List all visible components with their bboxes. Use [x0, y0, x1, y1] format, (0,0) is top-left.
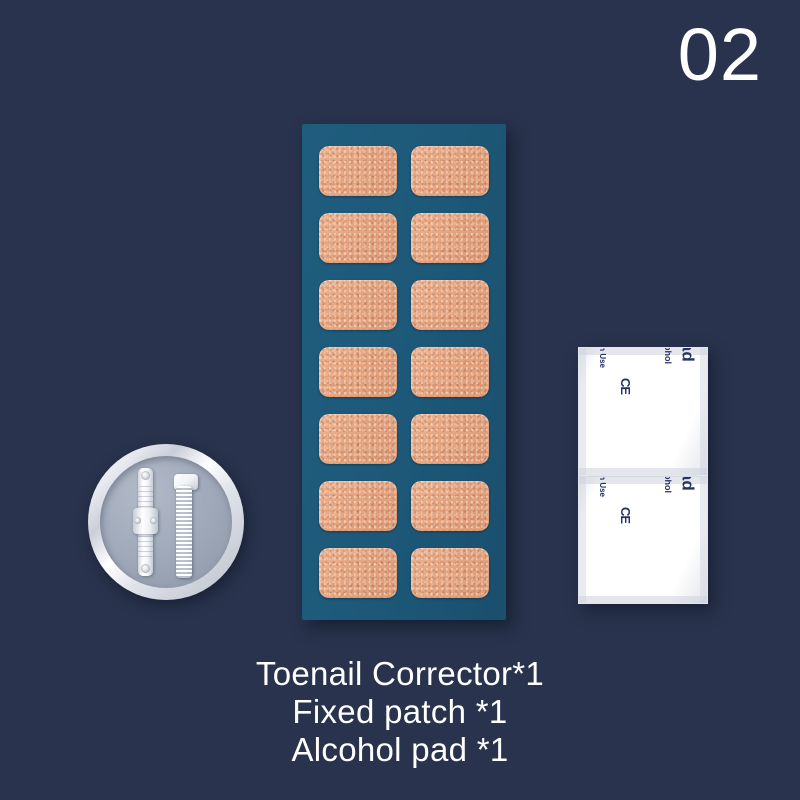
adhesive-patch	[411, 548, 489, 598]
adhesive-patch	[411, 213, 489, 263]
alcohol-pad-title: Alcohol Pad	[677, 347, 697, 362]
alcohol-pad-subtitle: 75% Alcohol	[663, 476, 673, 493]
adhesive-patch	[411, 414, 489, 464]
patch-row	[319, 347, 489, 397]
patch-row	[319, 280, 489, 330]
caption-line-1: Toenail Corrector*1	[0, 655, 800, 693]
patch-row	[319, 481, 489, 531]
step-number: 02	[678, 18, 762, 92]
patch-row	[319, 213, 489, 263]
adhesive-patch	[319, 280, 397, 330]
alcohol-pad-strip: Alcohol Pad 75% Alcohol CE For Disinfect…	[578, 347, 708, 604]
adhesive-patch	[319, 414, 397, 464]
adhesive-patch	[319, 481, 397, 531]
alcohol-pad-title: Alcohol Pad	[677, 476, 697, 491]
adhesive-patch	[319, 548, 397, 598]
caption-line-2: Fixed patch *1	[0, 693, 800, 731]
adhesive-patch	[411, 481, 489, 531]
alcohol-pad-usage-text: For Disinfection Use	[598, 476, 607, 497]
toenail-corrector-disc	[88, 444, 244, 600]
ce-mark-icon: CE	[618, 506, 633, 522]
alcohol-pad-packet: Alcohol Pad 75% Alcohol CE For Disinfect…	[578, 347, 708, 476]
patch-row	[319, 414, 489, 464]
adhesive-patch	[411, 347, 489, 397]
adhesive-patch	[411, 146, 489, 196]
patch-row	[319, 146, 489, 196]
adhesive-patch	[319, 213, 397, 263]
fixed-patch-sheet	[302, 124, 506, 620]
patch-row	[319, 548, 489, 598]
package-contents-caption: Toenail Corrector*1 Fixed patch *1 Alcoh…	[0, 655, 800, 769]
alcohol-pad-packet: Alcohol Pad 75% Alcohol CE For Disinfect…	[578, 476, 708, 605]
alcohol-pad-usage-text: For Disinfection Use	[598, 347, 607, 368]
product-image-canvas: 02	[0, 0, 800, 800]
disc-face	[100, 456, 232, 588]
corrector-rod-icon	[176, 486, 192, 578]
alcohol-pad-subtitle: 75% Alcohol	[663, 347, 673, 364]
bracket-clip-icon	[133, 508, 158, 534]
adhesive-patch	[411, 280, 489, 330]
adhesive-patch	[319, 146, 397, 196]
caption-line-3: Alcohol pad *1	[0, 731, 800, 769]
adhesive-patch	[319, 347, 397, 397]
ce-mark-icon: CE	[618, 378, 633, 394]
